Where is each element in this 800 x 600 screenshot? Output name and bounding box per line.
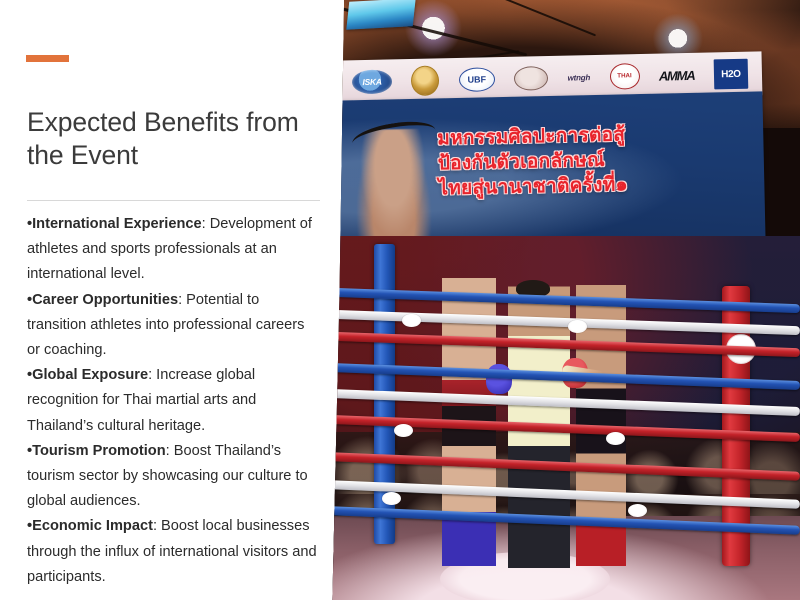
rope-badge <box>394 424 413 437</box>
fighter-portrait <box>355 129 432 249</box>
bullet-lead: Global Exposure <box>32 367 148 383</box>
text-column: Expected Benefits from the Event •Intern… <box>0 0 340 600</box>
gold-seal-logo-icon <box>411 65 440 96</box>
rope-badge <box>606 432 625 445</box>
bullet-lead: International Experience <box>32 216 202 232</box>
list-item: •International Experience: Development o… <box>27 212 321 288</box>
accent-bar <box>26 55 69 62</box>
event-banner: มหกรรมศิลปะการต่อสู้ ป้องกันตัวเอกลักษณ์… <box>332 91 765 250</box>
rope-badge <box>628 504 647 517</box>
cyan-banner-scrap <box>346 0 415 30</box>
list-item: •Economic Impact: Boost local businesses… <box>27 514 321 590</box>
wordmark-logo-icon: wtngh <box>567 73 590 82</box>
list-item: •Career Opportunities: Potential to tran… <box>27 288 321 364</box>
thai-fight-logo-icon: THAI <box>609 63 640 90</box>
event-photo: ISKA UBF wtngh THAI AMMA H2O มหกรรมศิลปะ… <box>330 0 800 600</box>
banner-thai-line-3: ไทยสู่นานาชาติครั้งที่๑ <box>438 170 738 202</box>
bullet-lead: Tourism Promotion <box>32 443 166 459</box>
slide-canvas: Expected Benefits from the Event •Intern… <box>0 0 800 600</box>
circular-logo-icon <box>514 66 549 91</box>
rope-badge <box>568 320 587 333</box>
amma-logo-icon: AMMA <box>659 67 695 83</box>
iska-logo-icon: ISKA <box>352 69 393 94</box>
list-item: •Global Exposure: Increase global recogn… <box>27 363 321 439</box>
ubf-logo-icon: UBF <box>459 67 496 92</box>
bullet-lead: Career Opportunities <box>32 292 178 308</box>
bullet-list: •International Experience: Development o… <box>27 212 321 590</box>
rope-badge <box>382 492 401 505</box>
banner-thai-text: มหกรรมศิลปะการต่อสู้ ป้องกันตัวเอกลักษณ์… <box>437 120 739 202</box>
bullet-lead: Economic Impact <box>32 518 153 534</box>
list-item: •Tourism Promotion: Boost Thailand’s tou… <box>27 439 321 515</box>
rope-badge <box>402 314 421 327</box>
title-divider <box>27 200 320 201</box>
page-title: Expected Benefits from the Event <box>27 106 327 172</box>
h2o-logo-icon: H2O <box>714 59 749 90</box>
